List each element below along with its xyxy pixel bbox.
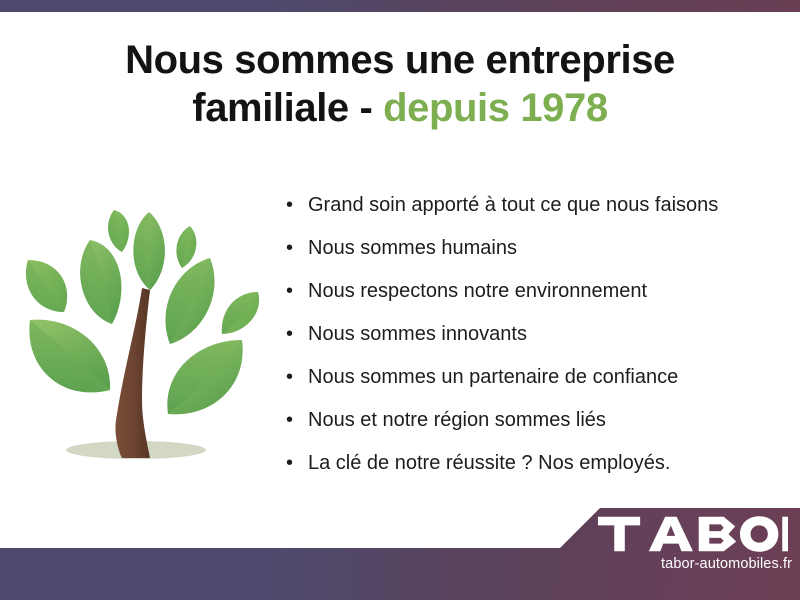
top-accent-band — [0, 0, 800, 12]
bullet-marker-icon: • — [286, 278, 308, 304]
bullet-marker-icon: • — [286, 450, 308, 476]
bullet-marker-icon: • — [286, 407, 308, 433]
bullet-marker-icon: • — [286, 235, 308, 261]
list-item: • Nous respectons notre environnement — [286, 278, 786, 321]
list-item-label: La clé de notre réussite ? Nos employés. — [308, 450, 670, 476]
list-item: • Nous sommes innovants — [286, 321, 786, 364]
bullet-marker-icon: • — [286, 192, 308, 218]
logo-panel: tabor-automobiles.fr — [556, 508, 800, 600]
title-line-1: Nous sommes une entreprise — [0, 36, 800, 84]
list-item-label: Nous sommes humains — [308, 235, 517, 261]
title-accent-text: depuis 1978 — [383, 86, 608, 130]
bullet-marker-icon: • — [286, 364, 308, 390]
page-title: Nous sommes une entreprise familiale - d… — [0, 36, 800, 132]
list-item: • Grand soin apporté à tout ce que nous … — [286, 192, 786, 235]
bullet-list: • Grand soin apporté à tout ce que nous … — [286, 192, 786, 493]
bullet-marker-icon: • — [286, 321, 308, 347]
logo-url-text: tabor-automobiles.fr — [600, 556, 792, 572]
tabor-wordmark-logo — [596, 514, 788, 554]
list-item: • Nous sommes humains — [286, 235, 786, 278]
slide-canvas: Nous sommes une entreprise familiale - d… — [0, 0, 800, 600]
tree-trunk — [115, 288, 150, 458]
list-item-label: Nous respectons notre environnement — [308, 278, 647, 304]
list-item-label: Nous et notre région sommes liés — [308, 407, 606, 433]
list-item-label: Nous sommes innovants — [308, 321, 527, 347]
list-item-label: Grand soin apporté à tout ce que nous fa… — [308, 192, 718, 218]
list-item: • Nous et notre région sommes liés — [286, 407, 786, 450]
list-item: • La clé de notre réussite ? Nos employé… — [286, 450, 786, 493]
list-item-label: Nous sommes un partenaire de confiance — [308, 364, 678, 390]
title-line-2: familiale - depuis 1978 — [0, 84, 800, 132]
list-item: • Nous sommes un partenaire de confiance — [286, 364, 786, 407]
title-line-2-plain: familiale - — [192, 86, 383, 130]
tree-illustration — [18, 188, 268, 488]
